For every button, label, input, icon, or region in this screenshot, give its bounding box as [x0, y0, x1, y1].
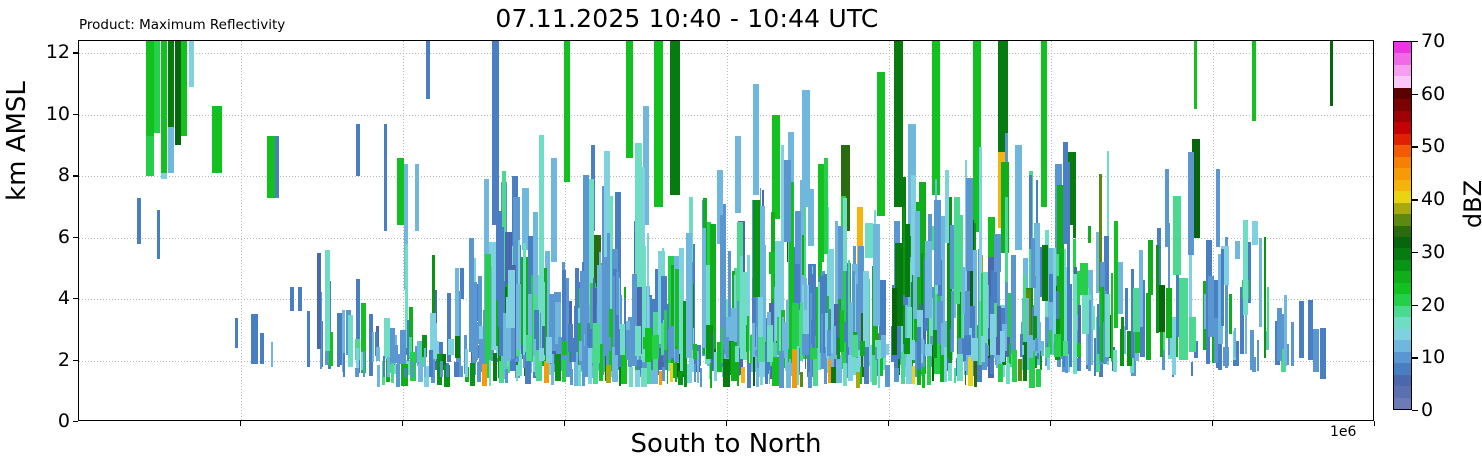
plot-canvas [79, 41, 1373, 420]
reflectivity-cell [680, 289, 683, 379]
colorbar-segment [1394, 41, 1411, 53]
reflectivity-cell [714, 352, 718, 381]
colorbar-segment [1394, 385, 1411, 397]
reflectivity-cell [571, 338, 577, 362]
reflectivity-cell [784, 160, 791, 242]
reflectivity-cell [753, 200, 760, 297]
reflectivity-cell [740, 256, 743, 359]
reflectivity-cell [1194, 41, 1198, 109]
reflectivity-cell [477, 362, 481, 382]
reflectivity-cell [376, 347, 380, 361]
reflectivity-cell [675, 269, 679, 350]
reflectivity-cell [678, 371, 683, 386]
reflectivity-cell [821, 314, 824, 355]
reflectivity-cell [615, 315, 619, 355]
reflectivity-cell [429, 350, 433, 378]
reflectivity-cell [810, 348, 817, 359]
reflectivity-cell [1243, 220, 1248, 316]
reflectivity-cell [668, 329, 671, 359]
reflectivity-cell [1077, 358, 1080, 371]
colorbar-segment [1394, 363, 1411, 375]
reflectivity-cell [687, 364, 692, 383]
reflectivity-cell [1092, 306, 1095, 330]
reflectivity-cell [792, 303, 798, 351]
reflectivity-cell [570, 369, 573, 385]
reflectivity-cell [661, 323, 664, 355]
reflectivity-cell [384, 124, 388, 232]
reflectivity-cell [275, 136, 280, 197]
reflectivity-cell [377, 365, 380, 387]
reflectivity-cell [706, 325, 713, 359]
reflectivity-cell [546, 337, 552, 363]
reflectivity-cell [267, 136, 275, 197]
reflectivity-cell [860, 341, 865, 355]
reflectivity-cell [1166, 288, 1172, 338]
reflectivity-cell [1035, 338, 1038, 351]
reflectivity-cell [901, 352, 905, 384]
reflectivity-cell [824, 158, 827, 254]
reflectivity-cell [693, 344, 697, 359]
reflectivity-cell [1160, 329, 1163, 356]
reflectivity-cell [986, 345, 989, 356]
reflectivity-cell [927, 353, 931, 384]
x-tick-mark [1050, 421, 1051, 426]
reflectivity-cell [1011, 255, 1016, 356]
reflectivity-cell [1100, 287, 1102, 359]
reflectivity-cell [1146, 293, 1151, 359]
reflectivity-cell [168, 41, 173, 127]
reflectivity-cell [626, 41, 633, 158]
reflectivity-cell [971, 338, 978, 362]
reflectivity-cell [1035, 234, 1039, 275]
y-axis-label: km AMSL [2, 41, 32, 241]
reflectivity-cell [555, 354, 561, 380]
reflectivity-cell [735, 136, 741, 213]
reflectivity-cell [1041, 341, 1044, 356]
reflectivity-cell [582, 360, 585, 386]
reflectivity-cell [945, 170, 949, 243]
reflectivity-cell [873, 224, 880, 326]
reflectivity-cell [954, 197, 960, 304]
reflectivity-cell [387, 357, 390, 377]
reflectivity-cell [1023, 274, 1026, 351]
gridline-vertical [1213, 41, 1214, 420]
reflectivity-cell [779, 351, 784, 388]
reflectivity-cell [511, 328, 515, 359]
reflectivity-cell [415, 164, 420, 232]
reflectivity-cell [492, 41, 498, 225]
reflectivity-cell [836, 355, 842, 383]
reflectivity-cell [404, 368, 407, 378]
colorbar-tick-label: 0 [1421, 399, 1433, 421]
reflectivity-cell [840, 310, 844, 352]
reflectivity-cell [1223, 347, 1228, 366]
reflectivity-cell [1059, 244, 1062, 305]
reflectivity-cell [1063, 341, 1068, 357]
reflectivity-cell [1320, 328, 1326, 379]
reflectivity-cell [455, 336, 459, 358]
reflectivity-cell [910, 340, 914, 361]
colorbar-segment [1394, 340, 1411, 352]
colorbar-tick-mark [1412, 146, 1418, 147]
reflectivity-cell [670, 41, 680, 195]
reflectivity-cell [710, 363, 712, 387]
reflectivity-cell [1006, 363, 1010, 384]
reflectivity-cell [912, 366, 915, 384]
reflectivity-cell [400, 330, 407, 364]
reflectivity-cell [1156, 245, 1159, 334]
reflectivity-cell [659, 371, 661, 386]
x-tick-mark [240, 421, 241, 426]
reflectivity-cell [933, 330, 938, 358]
reflectivity-cell [1221, 249, 1224, 325]
reflectivity-cell [137, 198, 140, 244]
reflectivity-cell [966, 178, 973, 270]
reflectivity-cell [1204, 294, 1207, 329]
colorbar-segment [1394, 122, 1411, 134]
y-tick-label: 10 [30, 103, 70, 125]
reflectivity-cell [1041, 41, 1047, 207]
reflectivity-cell [154, 41, 160, 133]
reflectivity-cell [852, 335, 858, 357]
reflectivity-cell [391, 363, 394, 383]
colorbar-segment [1394, 53, 1411, 65]
reflectivity-cell [1277, 308, 1283, 361]
colorbar-tick-mark [1412, 252, 1418, 253]
reflectivity-cell [1234, 328, 1237, 358]
reflectivity-cell [1252, 41, 1256, 121]
reflectivity-cell [251, 314, 257, 363]
reflectivity-cell [635, 326, 642, 356]
reflectivity-cell [917, 369, 922, 386]
reflectivity-cell [769, 370, 771, 384]
x-tick-mark [1212, 421, 1213, 426]
colorbar-tick-mark [1412, 357, 1418, 358]
colorbar-tick-label: 70 [1421, 30, 1445, 52]
colorbar-tick-label: 10 [1421, 346, 1445, 368]
reflectivity-cell [1080, 263, 1088, 294]
reflectivity-cell [941, 323, 943, 354]
reflectivity-cell [348, 315, 353, 367]
reflectivity-cell [802, 235, 804, 275]
reflectivity-cell [1257, 340, 1260, 371]
reflectivity-cell [831, 367, 836, 383]
reflectivity-cell [470, 363, 475, 386]
reflectivity-cell [593, 323, 600, 363]
reflectivity-cell [694, 364, 696, 382]
reflectivity-cell [146, 41, 153, 139]
reflectivity-cell [1264, 237, 1267, 358]
reflectivity-cell [965, 371, 967, 385]
reflectivity-cell [424, 348, 426, 378]
reflectivity-cell [804, 278, 807, 310]
reflectivity-cell [161, 173, 167, 179]
colorbar-segment [1394, 271, 1411, 283]
colorbar-label: dBZ [1459, 180, 1482, 228]
reflectivity-cell [818, 282, 820, 370]
reflectivity-cell [1068, 305, 1071, 329]
reflectivity-cell [482, 364, 487, 386]
reflectivity-cell [813, 358, 818, 386]
reflectivity-cell [983, 272, 988, 342]
reflectivity-cell [1118, 262, 1123, 314]
reflectivity-cell [1053, 248, 1056, 343]
gridline-horizontal [79, 53, 1373, 54]
reflectivity-cell [1313, 329, 1319, 372]
reflectivity-cell [1229, 294, 1232, 334]
reflectivity-cell [540, 313, 542, 350]
reflectivity-cell [747, 363, 751, 388]
reflectivity-cell [189, 41, 194, 87]
page-title: 07.11.2025 10:40 - 10:44 UTC [0, 4, 1374, 33]
reflectivity-cell [1023, 342, 1027, 381]
reflectivity-cell [564, 41, 570, 182]
reflectivity-cell [735, 346, 739, 362]
reflectivity-cell [474, 322, 478, 359]
reflectivity-cell [772, 357, 778, 386]
reflectivity-cell [1045, 347, 1049, 358]
reflectivity-cell [181, 41, 187, 136]
reflectivity-cell [723, 204, 726, 354]
reflectivity-cell [1005, 197, 1008, 282]
y-tick-label: 2 [30, 349, 70, 371]
reflectivity-cell [1094, 338, 1096, 375]
x-tick-mark [1374, 421, 1375, 426]
x-axis-offset-text: 1e6 [1330, 424, 1356, 440]
colorbar-segment [1394, 248, 1411, 260]
colorbar-segment [1394, 202, 1411, 214]
colorbar-segment [1394, 99, 1411, 111]
x-tick-mark [726, 421, 727, 426]
reflectivity-cell [1054, 334, 1061, 357]
colorbar-segment [1394, 328, 1411, 340]
reflectivity-cell [355, 368, 359, 378]
reflectivity-cell [833, 326, 836, 359]
reflectivity-cell [372, 332, 374, 362]
reflectivity-cell [843, 363, 847, 386]
y-tick-label: 6 [30, 226, 70, 248]
reflectivity-cell [837, 338, 840, 359]
colorbar-tick-mark [1412, 94, 1418, 95]
reflectivity-cell [1105, 294, 1110, 358]
reflectivity-cell [493, 353, 497, 381]
reflectivity-cell [337, 313, 342, 365]
colorbar-tick-label: 30 [1421, 241, 1445, 263]
y-tick-label: 12 [30, 41, 70, 63]
reflectivity-cell [968, 357, 973, 386]
reflectivity-cell [994, 234, 1000, 272]
reflectivity-cell [533, 339, 536, 356]
reflectivity-cell [588, 348, 593, 383]
reflectivity-cell [1022, 345, 1024, 356]
colorbar-tick-label: 60 [1421, 83, 1445, 105]
reflectivity-cell [605, 337, 611, 351]
colorbar-segment [1394, 317, 1411, 329]
reflectivity-cell [753, 84, 759, 195]
reflectivity-cell [1218, 343, 1222, 370]
reflectivity-cell [824, 358, 827, 384]
reflectivity-cell [925, 241, 932, 318]
reflectivity-cell [343, 353, 345, 378]
colorbar-segment [1394, 397, 1411, 409]
colorbar [1393, 41, 1412, 410]
reflectivity-cell [1124, 326, 1126, 354]
reflectivity-cell [465, 349, 468, 378]
colorbar-segment [1394, 236, 1411, 248]
reflectivity-cell [146, 136, 153, 176]
reflectivity-cell [808, 372, 813, 388]
y-tick-label: 8 [30, 164, 70, 186]
reflectivity-cell [1173, 196, 1180, 275]
reflectivity-cell [843, 198, 847, 272]
reflectivity-cell [823, 274, 826, 313]
reflectivity-cell [1036, 369, 1041, 387]
plot-area [78, 40, 1374, 421]
reflectivity-cell [856, 372, 860, 388]
reflectivity-cell [772, 115, 780, 219]
reflectivity-cell [168, 127, 173, 173]
reflectivity-cell [157, 210, 160, 259]
reflectivity-cell [356, 124, 360, 176]
reflectivity-cell [894, 368, 900, 382]
reflectivity-cell [797, 346, 798, 385]
reflectivity-cell [1018, 359, 1022, 381]
reflectivity-cell [922, 367, 925, 388]
reflectivity-cell [981, 336, 985, 362]
reflectivity-cell [1179, 278, 1187, 360]
colorbar-segment [1394, 145, 1411, 157]
reflectivity-cell [700, 368, 702, 387]
colorbar-segment [1394, 374, 1411, 386]
reflectivity-cell [397, 158, 404, 226]
reflectivity-cell [526, 335, 533, 362]
reflectivity-cell [990, 314, 996, 355]
reflectivity-cell [892, 288, 897, 355]
reflectivity-cell [1208, 276, 1213, 337]
reflectivity-cell [496, 300, 498, 346]
reflectivity-cell [957, 354, 963, 381]
reflectivity-cell [539, 348, 544, 361]
x-tick-mark [402, 421, 403, 426]
y-tick-label: 4 [30, 287, 70, 309]
reflectivity-cell [407, 320, 410, 361]
reflectivity-cell [459, 366, 463, 378]
reflectivity-cell [161, 41, 167, 176]
reflectivity-cell [1077, 343, 1080, 356]
gridline-vertical [889, 41, 890, 420]
colorbar-gradient [1394, 42, 1411, 409]
reflectivity-cell [964, 335, 971, 356]
reflectivity-cell [925, 344, 932, 355]
x-tick-mark [888, 421, 889, 426]
reflectivity-cell [363, 351, 365, 378]
reflectivity-cell [1082, 288, 1089, 334]
colorbar-segment [1394, 191, 1411, 203]
reflectivity-cell [1125, 288, 1127, 330]
reflectivity-cell [771, 254, 775, 298]
reflectivity-cell [828, 359, 830, 383]
reflectivity-cell [1063, 142, 1068, 244]
reflectivity-cell [1088, 226, 1091, 242]
colorbar-tick-mark [1412, 305, 1418, 306]
reflectivity-cell [383, 356, 385, 377]
reflectivity-cell [1267, 287, 1269, 349]
reflectivity-cell [932, 41, 940, 195]
reflectivity-cell [448, 339, 454, 355]
reflectivity-cell [721, 327, 723, 364]
reflectivity-cell [944, 347, 947, 382]
reflectivity-cell [271, 342, 274, 367]
reflectivity-cell [917, 327, 921, 369]
reflectivity-cell [1191, 362, 1193, 376]
reflectivity-cell [915, 211, 920, 276]
reflectivity-cell [808, 189, 814, 246]
radar-cross-section-figure: Product: Maximum Reflectivity 07.11.2025… [0, 0, 1482, 470]
reflectivity-cell [684, 367, 687, 387]
reflectivity-cell [290, 287, 294, 312]
reflectivity-cell [489, 360, 491, 387]
reflectivity-cell [1165, 169, 1169, 247]
reflectivity-cell [737, 301, 739, 349]
reflectivity-cell [865, 223, 872, 258]
reflectivity-cell [1235, 241, 1241, 259]
reflectivity-cell [641, 368, 647, 387]
reflectivity-cell [1015, 145, 1022, 249]
reflectivity-cell [635, 370, 641, 387]
reflectivity-cell [737, 361, 739, 386]
reflectivity-cell [948, 363, 952, 380]
reflectivity-cell [175, 41, 181, 145]
reflectivity-cell [551, 158, 557, 262]
reflectivity-cell [505, 369, 508, 383]
reflectivity-cell [212, 106, 221, 174]
reflectivity-cell [411, 361, 415, 378]
reflectivity-cell [723, 359, 729, 387]
reflectivity-cell [977, 365, 983, 382]
reflectivity-cell [620, 324, 625, 355]
colorbar-segment [1394, 110, 1411, 122]
x-tick-mark [564, 421, 565, 426]
reflectivity-cell [905, 224, 910, 297]
colorbar-segment [1394, 179, 1411, 191]
reflectivity-cell [827, 330, 831, 356]
colorbar-tick-label: 40 [1421, 188, 1445, 210]
reflectivity-cell [662, 367, 665, 381]
reflectivity-cell [921, 339, 924, 354]
reflectivity-cell [998, 364, 1002, 383]
reflectivity-cell [1042, 245, 1048, 301]
reflectivity-cell [446, 363, 448, 378]
reflectivity-cell [384, 318, 390, 359]
reflectivity-cell [758, 337, 765, 362]
colorbar-segment [1394, 351, 1411, 363]
reflectivity-cell [726, 337, 729, 358]
reflectivity-cell [846, 308, 848, 356]
reflectivity-cell [1259, 238, 1263, 327]
colorbar-segment [1394, 76, 1411, 88]
reflectivity-cell [962, 267, 965, 314]
gridline-vertical [1051, 41, 1052, 420]
gridline-horizontal [79, 115, 1373, 116]
reflectivity-cell [629, 367, 633, 387]
reflectivity-cell [777, 317, 779, 355]
reflectivity-cell [260, 333, 263, 364]
reflectivity-cell [645, 328, 652, 362]
colorbar-segment [1394, 305, 1411, 317]
colorbar-segment [1394, 282, 1411, 294]
reflectivity-cell [544, 361, 549, 383]
x-axis-label: South to North [78, 429, 1374, 459]
